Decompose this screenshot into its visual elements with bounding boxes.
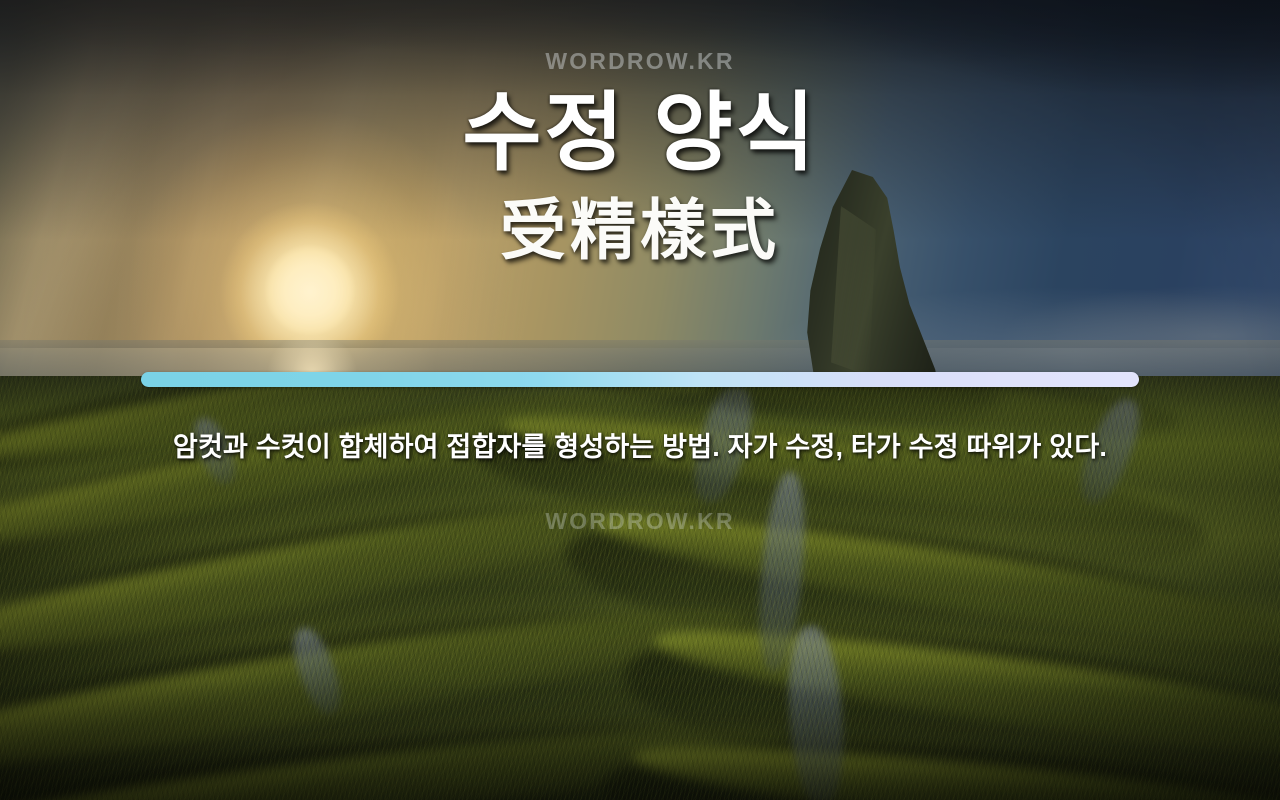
poster-canvas: WORDROW.KR WORDROW.KR 수정 양식 受精樣式 암컷과 수컷이…: [0, 0, 1280, 800]
gradient-divider-bar: [141, 372, 1139, 387]
divider: [141, 372, 1139, 387]
definition-text: 암컷과 수컷이 합체하여 접합자를 형성하는 방법. 자가 수정, 타가 수정 …: [140, 428, 1140, 467]
page-title: 수정 양식: [462, 90, 817, 178]
poster-content: 수정 양식 受精樣式: [0, 0, 1280, 800]
page-subtitle-hanja: 受精樣式: [500, 196, 780, 265]
